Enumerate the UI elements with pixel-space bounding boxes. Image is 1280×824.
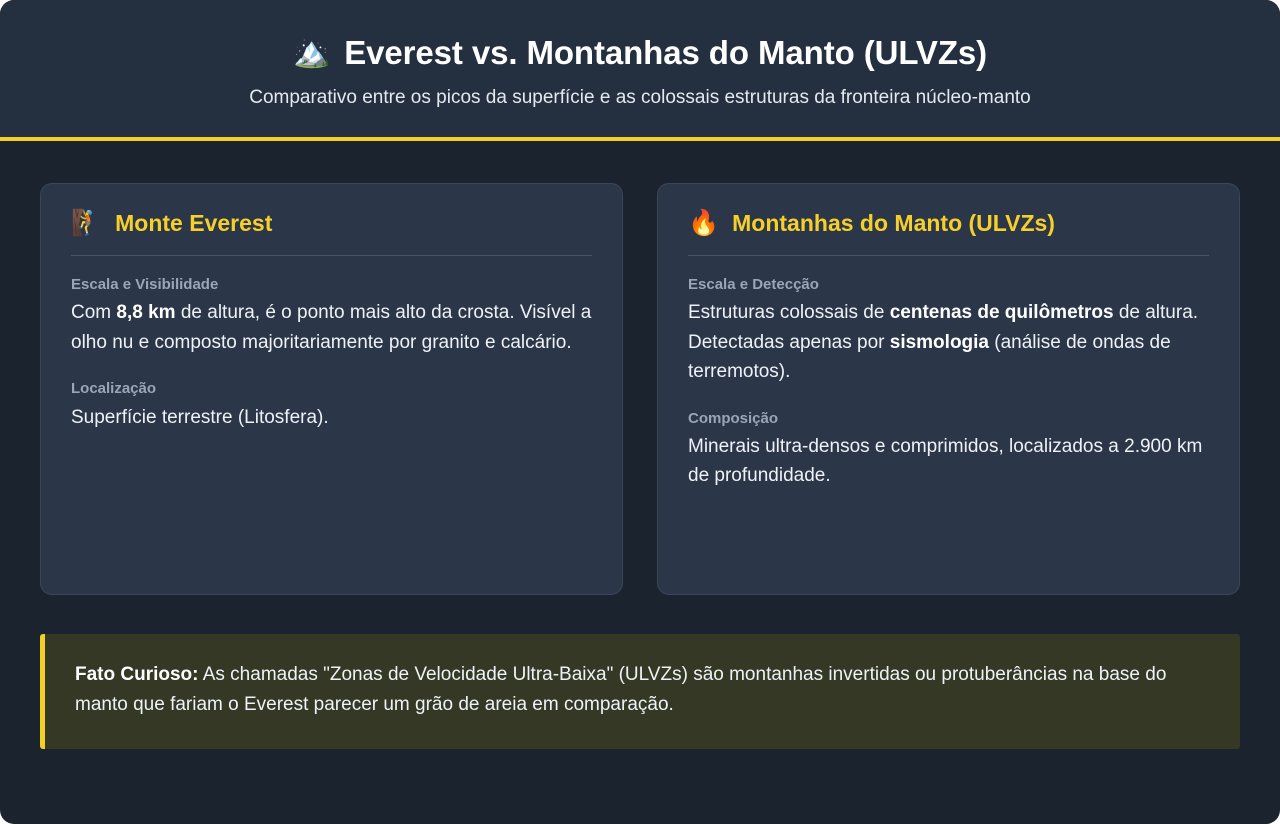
- page-subtitle: Comparativo entre os picos da superfície…: [40, 86, 1240, 111]
- card-divider: [688, 255, 1209, 256]
- card-section: Escala e Visibilidade Com 8,8 km de altu…: [71, 275, 592, 357]
- section-text: Estruturas colossais de centenas de quil…: [688, 298, 1209, 386]
- page-title: 🏔️ Everest vs. Montanhas do Manto (ULVZs…: [40, 34, 1240, 72]
- page-title-text: Everest vs. Montanhas do Manto (ULVZs): [344, 34, 987, 72]
- card-section: Localização Superfície terrestre (Litosf…: [71, 379, 592, 432]
- section-label: Escala e Detecção: [688, 275, 1209, 295]
- fire-icon: 🔥: [688, 211, 719, 236]
- section-label: Composição: [688, 409, 1209, 429]
- card-title: Monte Everest: [115, 210, 272, 238]
- card-header: 🧗 Monte Everest: [71, 210, 592, 238]
- card-section: Composição Minerais ultra-densos e compr…: [688, 409, 1209, 491]
- fun-fact-text: Fato Curioso: As chamadas "Zonas de Velo…: [75, 660, 1210, 722]
- infographic-page: 🏔️ Everest vs. Montanhas do Manto (ULVZs…: [0, 0, 1280, 824]
- section-text: Minerais ultra-densos e comprimidos, loc…: [688, 432, 1209, 491]
- comparison-cards: 🧗 Monte Everest Escala e Visibilidade Co…: [40, 183, 1240, 595]
- card-header: 🔥 Montanhas do Manto (ULVZs): [688, 210, 1209, 238]
- card-monte-everest: 🧗 Monte Everest Escala e Visibilidade Co…: [40, 183, 623, 595]
- card-montanhas-do-manto: 🔥 Montanhas do Manto (ULVZs) Escala e De…: [657, 183, 1240, 595]
- section-text: Superfície terrestre (Litosfera).: [71, 403, 592, 432]
- section-text: Com 8,8 km de altura, é o ponto mais alt…: [71, 298, 592, 357]
- climber-icon: 🧗: [71, 211, 102, 236]
- snow-capped-mountain-icon: 🏔️: [293, 38, 330, 68]
- page-header: 🏔️ Everest vs. Montanhas do Manto (ULVZs…: [0, 0, 1280, 141]
- section-label: Escala e Visibilidade: [71, 275, 592, 295]
- main-content: 🧗 Monte Everest Escala e Visibilidade Co…: [0, 141, 1280, 595]
- section-label: Localização: [71, 379, 592, 399]
- fun-fact-callout: Fato Curioso: As chamadas "Zonas de Velo…: [40, 634, 1240, 750]
- card-divider: [71, 255, 592, 256]
- card-title: Montanhas do Manto (ULVZs): [732, 210, 1055, 238]
- card-section: Escala e Detecção Estruturas colossais d…: [688, 275, 1209, 387]
